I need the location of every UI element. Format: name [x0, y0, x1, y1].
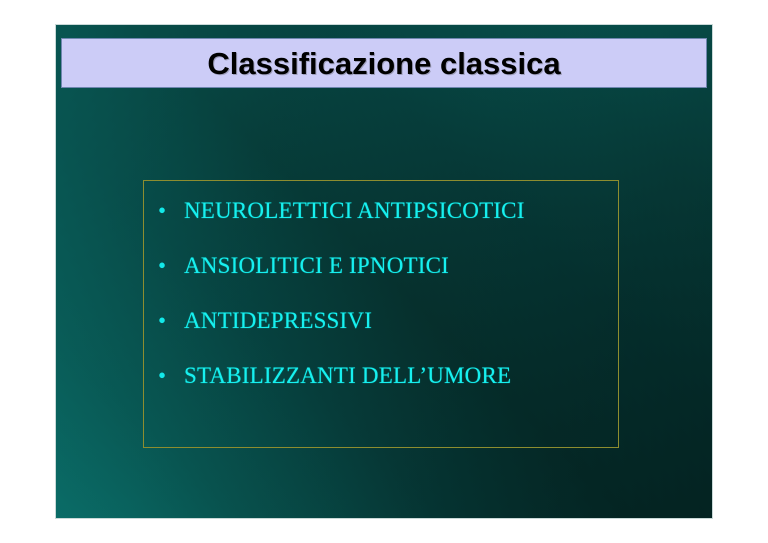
- bullet-point-icon: •: [158, 364, 184, 387]
- list-item: • STABILIZZANTI DELL’UMORE: [158, 364, 608, 388]
- bullet-item-label: STABILIZZANTI DELL’UMORE: [184, 364, 511, 388]
- bullet-item-label: ANSIOLITICI E IPNOTICI: [184, 254, 449, 278]
- bullet-item-label: ANTIDEPRESSIVI: [184, 309, 372, 333]
- slide-canvas: Classificazione classica • NEUROLETTICI …: [56, 25, 712, 518]
- bullet-list-box: • NEUROLETTICI ANTIPSICOTICI • ANSIOLITI…: [143, 180, 619, 448]
- bullet-item-label: NEUROLETTICI ANTIPSICOTICI: [184, 199, 525, 223]
- list-item: • ANTIDEPRESSIVI: [158, 309, 608, 333]
- bullet-point-icon: •: [158, 199, 184, 222]
- slide-title-bar: Classificazione classica: [61, 38, 707, 88]
- list-item: • ANSIOLITICI E IPNOTICI: [158, 254, 608, 278]
- bullet-point-icon: •: [158, 309, 184, 332]
- list-item: • NEUROLETTICI ANTIPSICOTICI: [158, 199, 608, 223]
- bullet-point-icon: •: [158, 254, 184, 277]
- page-title: Classificazione classica: [207, 48, 560, 79]
